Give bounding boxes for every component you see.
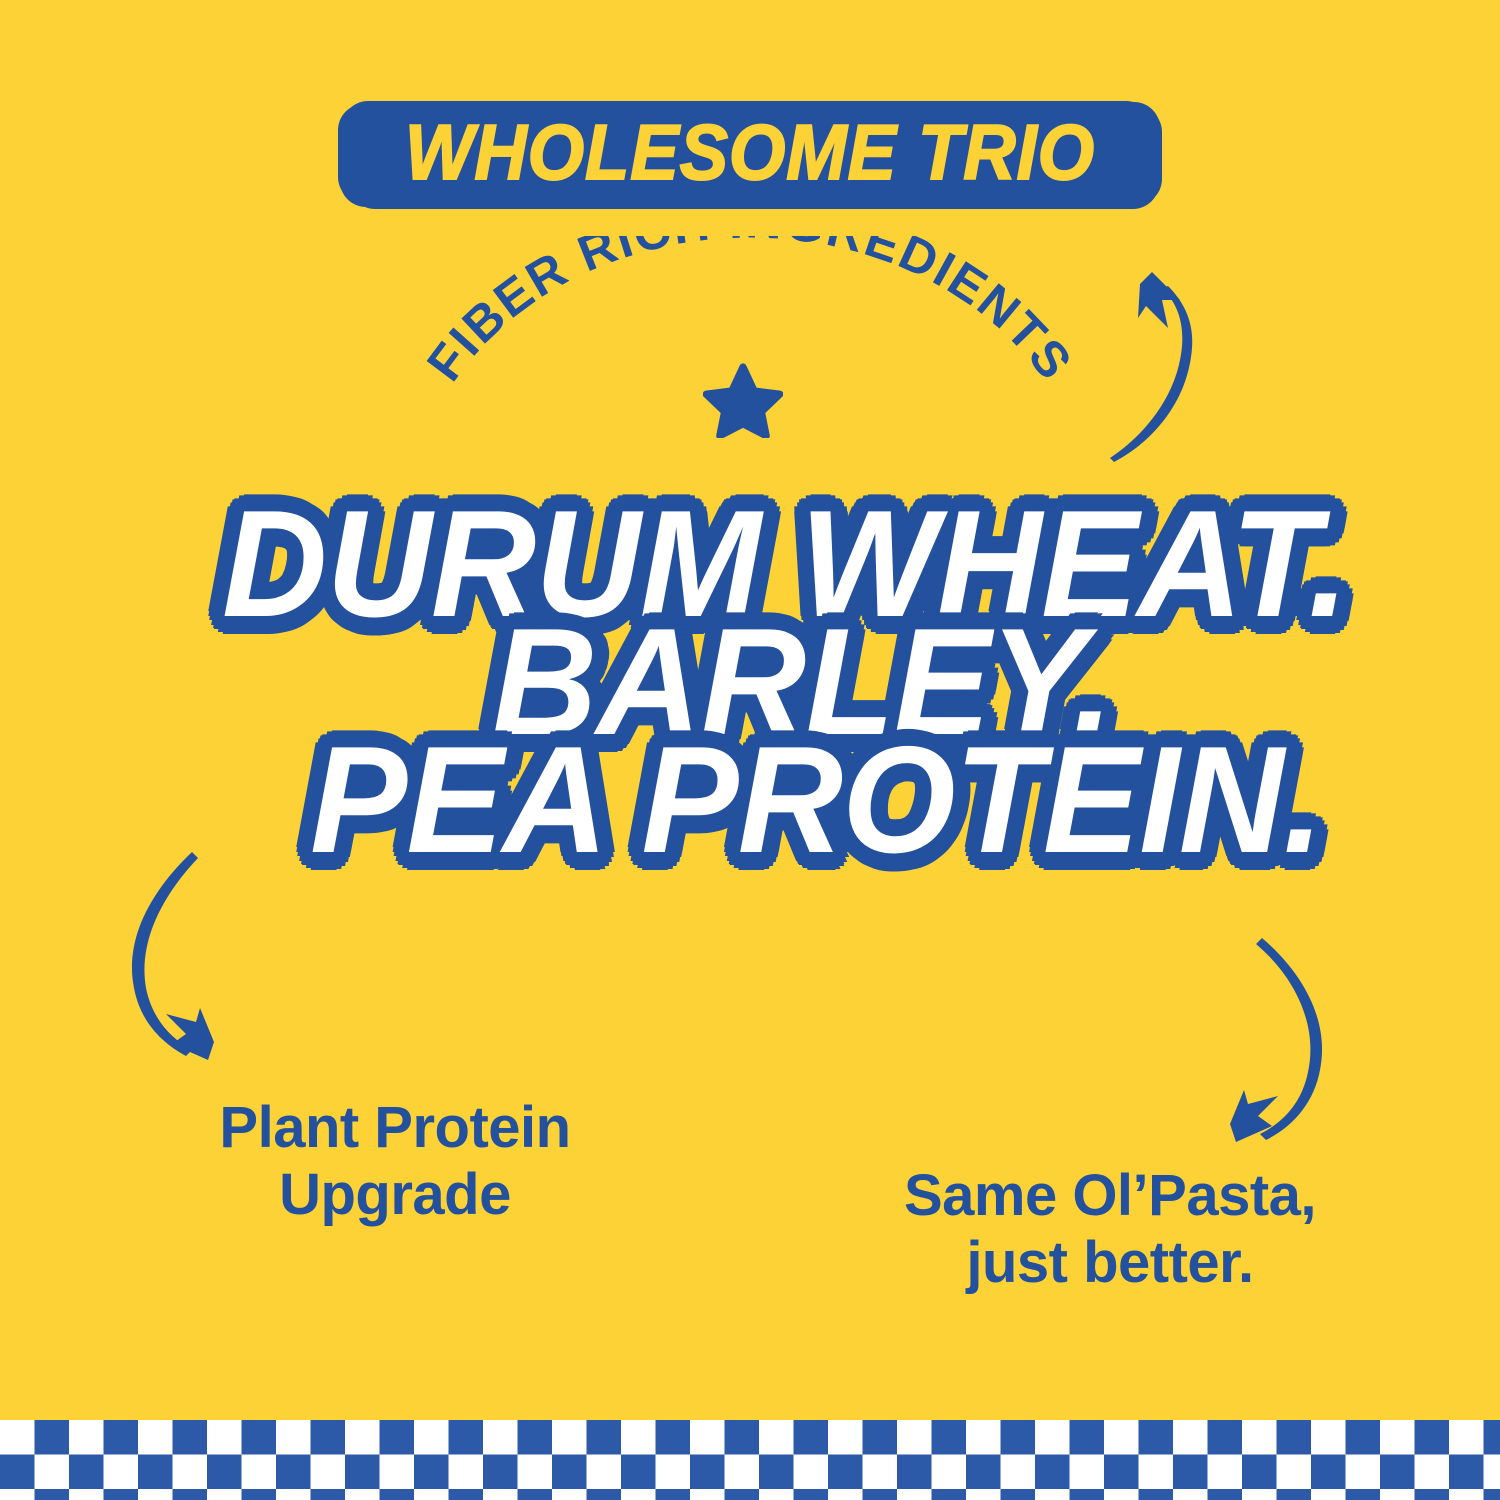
checkerboard-footer bbox=[0, 1420, 1500, 1500]
caption-left-line-1: Plant Protein bbox=[100, 1095, 690, 1162]
wholesome-trio-badge-label: WHOLESOME TRIO bbox=[405, 121, 1095, 185]
headline-block: DURUM WHEAT. BARLEY. PEA PROTEIN. bbox=[0, 498, 1500, 867]
curved-arrow-down-right-icon bbox=[1212, 930, 1362, 1145]
caption-right-line-2: just better. bbox=[790, 1230, 1430, 1297]
wholesome-trio-badge: WHOLESOME TRIO bbox=[345, 105, 1155, 205]
curved-arrow-down-left-icon bbox=[122, 838, 267, 1063]
wholesome-trio-badge-container: WHOLESOME TRIO bbox=[0, 92, 1500, 217]
caption-same-ol-pasta: Same Ol’Pasta, just better. bbox=[790, 1163, 1430, 1296]
caption-plant-protein-upgrade: Plant Protein Upgrade bbox=[100, 1095, 690, 1228]
promo-poster: WHOLESOME TRIO FIBER RICH INGREDIENTS DU… bbox=[0, 0, 1500, 1500]
caption-right-line-1: Same Ol’Pasta, bbox=[790, 1163, 1430, 1230]
curved-arrow-up-right-icon bbox=[1082, 262, 1222, 462]
headline-line-3: PEA PROTEIN. bbox=[310, 734, 1323, 868]
caption-left-line-2: Upgrade bbox=[100, 1162, 690, 1229]
star-icon bbox=[703, 360, 783, 438]
